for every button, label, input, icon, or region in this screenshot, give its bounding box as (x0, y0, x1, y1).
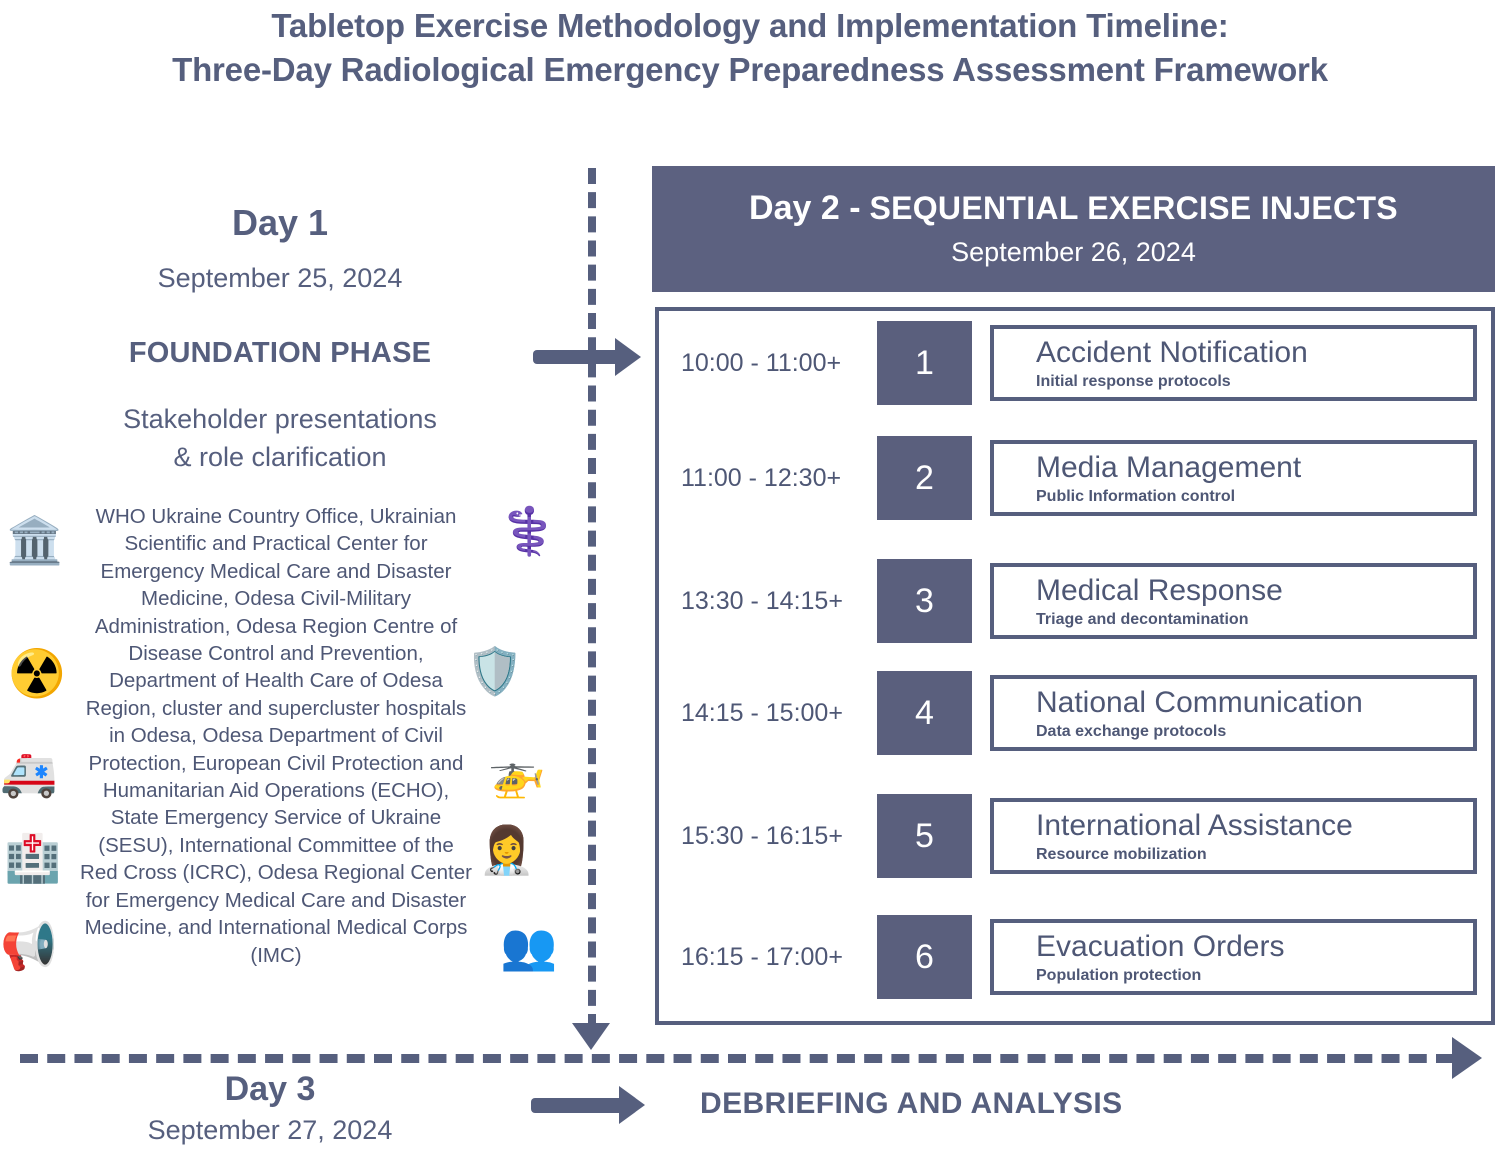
inject-row[interactable]: 13:30 - 14:15+ 3 Medical Response Triage… (681, 559, 1477, 643)
day3-heading: Day 3 (60, 1068, 480, 1110)
inject-number-badge: 3 (877, 559, 972, 643)
inject-number-badge: 6 (877, 915, 972, 999)
people-icon: 👥 (500, 918, 556, 974)
page-title: Tabletop Exercise Methodology and Implem… (0, 4, 1500, 92)
classical-building-icon: 🏛️ (6, 512, 62, 568)
inject-row[interactable]: 14:15 - 15:00+ 4 National Communication … (681, 671, 1477, 755)
vertical-dashed-connector (588, 168, 596, 1030)
inject-name: Evacuation Orders (1036, 930, 1473, 964)
inject-description: Data exchange protocols (1036, 721, 1473, 743)
inject-description: Triage and decontamination (1036, 609, 1473, 631)
inject-time: 13:30 - 14:15+ (681, 587, 877, 616)
inject-time: 10:00 - 11:00+ (681, 349, 877, 378)
bottom-timeline-arrowhead (1452, 1037, 1482, 1079)
inject-description: Resource mobilization (1036, 844, 1473, 866)
inject-row[interactable]: 16:15 - 17:00+ 6 Evacuation Orders Popul… (681, 915, 1477, 999)
day2-header: Day 2 - SEQUENTIAL EXERCISE INJECTS Sept… (652, 166, 1495, 292)
inject-number-badge: 5 (877, 794, 972, 878)
nurse-icon: 👩‍⚕️ (478, 822, 534, 878)
inject-name: National Communication (1036, 686, 1473, 720)
day1-subtitle-line-1: Stakeholder presentations (0, 400, 560, 438)
day1-column: Day 1 September 25, 2024 FOUNDATION PHAS… (0, 200, 560, 476)
medical-symbol-icon: ⚕️ (500, 503, 556, 559)
timeline-infographic: Tabletop Exercise Methodology and Implem… (0, 0, 1500, 1155)
title-line-2: Three-Day Radiological Emergency Prepare… (0, 48, 1500, 92)
inject-card[interactable]: National Communication Data exchange pro… (990, 675, 1477, 751)
day2-title-row: Day 2 - SEQUENTIAL EXERCISE INJECTS (749, 188, 1398, 228)
inject-number-badge: 1 (877, 321, 972, 405)
arrow-shaft (531, 1098, 623, 1113)
inject-card[interactable]: Medical Response Triage and decontaminat… (990, 563, 1477, 639)
title-line-1: Tabletop Exercise Methodology and Implem… (0, 4, 1500, 48)
day1-subtitle-line-2: & role clarification (0, 438, 560, 476)
inject-time: 14:15 - 15:00+ (681, 699, 877, 728)
day3-column: Day 3 September 27, 2024 (60, 1068, 480, 1150)
day2-date: September 26, 2024 (951, 234, 1196, 270)
inject-description: Population protection (1036, 965, 1473, 987)
inject-card[interactable]: Evacuation Orders Population protection (990, 919, 1477, 995)
medical-helicopter-icon: 🚁 (488, 745, 544, 801)
arrow-head (615, 338, 641, 376)
inject-card[interactable]: Accident Notification Initial response p… (990, 325, 1477, 401)
megaphone-icon: 📢 (0, 918, 56, 974)
inject-card[interactable]: International Assistance Resource mobili… (990, 798, 1477, 874)
day1-to-day2-arrow (533, 338, 645, 376)
inject-number-badge: 4 (877, 671, 972, 755)
day2-caps-label: SEQUENTIAL EXERCISE INJECTS (869, 190, 1398, 226)
vertical-connector-arrowhead (572, 1023, 610, 1050)
arrow-head (619, 1086, 645, 1124)
bottom-timeline-dashed-line (20, 1054, 1454, 1063)
day3-to-debrief-arrow (531, 1085, 656, 1125)
inject-list: 10:00 - 11:00+ 1 Accident Notification I… (659, 311, 1491, 1021)
inject-name: Accident Notification (1036, 336, 1473, 370)
inject-name: Media Management (1036, 451, 1473, 485)
inject-card[interactable]: Media Management Public Information cont… (990, 440, 1477, 516)
inject-time: 11:00 - 12:30+ (681, 464, 877, 493)
inject-row[interactable]: 10:00 - 11:00+ 1 Accident Notification I… (681, 321, 1477, 405)
day1-date: September 25, 2024 (0, 256, 560, 300)
inject-row[interactable]: 15:30 - 16:15+ 5 International Assistanc… (681, 794, 1477, 878)
inject-time: 15:30 - 16:15+ (681, 822, 877, 851)
inject-name: International Assistance (1036, 809, 1473, 843)
ambulance-icon: 🚑 (0, 745, 56, 801)
hospital-icon: 🏥 (4, 830, 60, 886)
day2-label: Day 2 - (749, 189, 861, 227)
day2-injects-panel: 10:00 - 11:00+ 1 Accident Notification I… (655, 307, 1495, 1025)
inject-number-badge: 2 (877, 436, 972, 520)
day1-phase-label: FOUNDATION PHASE (0, 334, 560, 372)
day1-heading: Day 1 (0, 200, 560, 246)
debriefing-label: DEBRIEFING AND ANALYSIS (700, 1087, 1400, 1121)
shield-icon: 🛡️ (466, 643, 522, 699)
inject-time: 16:15 - 17:00+ (681, 943, 877, 972)
stakeholder-list-text: WHO Ukraine Country Office, Ukrainian Sc… (78, 503, 474, 969)
inject-row[interactable]: 11:00 - 12:30+ 2 Media Management Public… (681, 436, 1477, 520)
inject-description: Public Information control (1036, 486, 1473, 508)
day1-subtitle: Stakeholder presentations & role clarifi… (0, 400, 560, 476)
inject-name: Medical Response (1036, 574, 1473, 608)
arrow-shaft (533, 350, 619, 364)
inject-description: Initial response protocols (1036, 371, 1473, 393)
day3-date: September 27, 2024 (60, 1110, 480, 1150)
radioactive-icon: ☢️ (8, 645, 64, 701)
